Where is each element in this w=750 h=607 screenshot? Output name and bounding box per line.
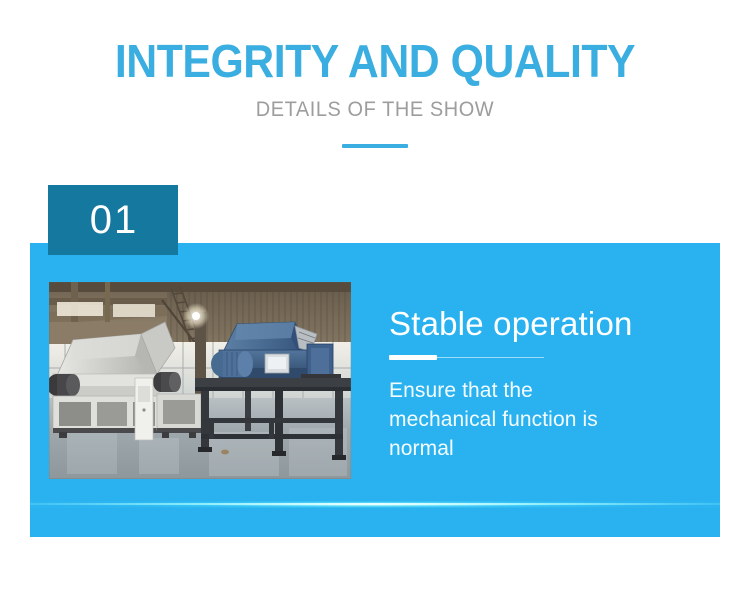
- photo-illustration: [49, 282, 351, 479]
- section-number-badge: 01: [48, 185, 178, 255]
- title-divider: [342, 144, 408, 148]
- page-subtitle: DETAILS OF THE SHOW: [19, 86, 732, 123]
- section-number-label: 01: [88, 200, 139, 240]
- feature-divider-solid: [389, 355, 437, 360]
- header-block: INTEGRITY AND QUALITY DETAILS OF THE SHO…: [0, 0, 750, 148]
- feature-body-text: Ensure that the mechanical function is n…: [389, 360, 705, 463]
- feature-heading: Stable operation: [389, 305, 705, 342]
- panel-light-streak-core: [30, 503, 720, 505]
- feature-panel: Stable operation Ensure that the mechani…: [30, 243, 720, 537]
- feature-text-column: Stable operation Ensure that the mechani…: [389, 305, 705, 463]
- panel-light-streak: [30, 501, 720, 508]
- page-title: INTEGRITY AND QUALITY: [26, 0, 724, 86]
- industrial-shredder-machines-photo: [49, 282, 351, 479]
- feature-divider-thin: [437, 357, 544, 358]
- feature-divider: [389, 355, 544, 360]
